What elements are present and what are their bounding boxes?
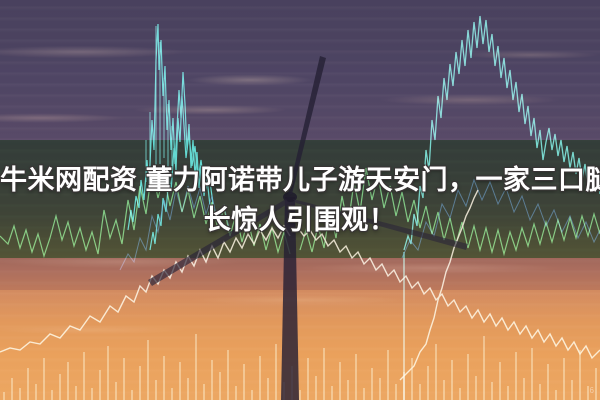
news-thumbnail: 牛米网配资 董力阿诺带儿子游天安门，一家三口腿 长惊人引围观！ 6	[0, 0, 600, 400]
page-title: 牛米网配资 董力阿诺带儿子游天安门，一家三口腿 长惊人引围观！	[0, 160, 600, 240]
headline-line-2: 长惊人引围观！	[0, 200, 600, 240]
headline-line-1: 牛米网配资 董力阿诺带儿子游天安门，一家三口腿	[0, 165, 600, 195]
watermark: 6	[590, 386, 594, 395]
